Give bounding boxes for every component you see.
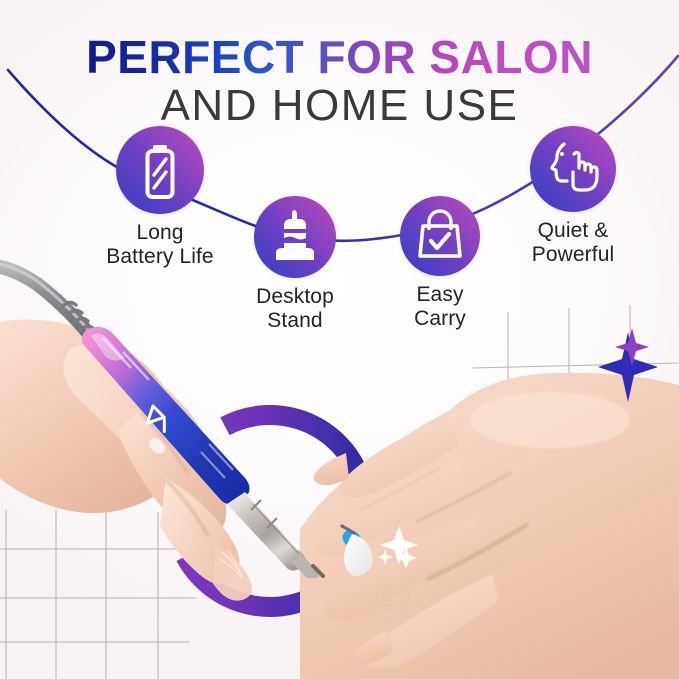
marketing-image-stage: PERFECT FOR SALON AND HOME USE Lon xyxy=(0,0,679,679)
drill-stand-icon xyxy=(254,196,336,278)
headline-line-1: PERFECT FOR SALON xyxy=(86,34,593,80)
shopping-bag-check-icon xyxy=(400,196,480,276)
feature-quiet-powerful[interactable]: Quiet & Powerful xyxy=(478,126,668,266)
headline-line-2: AND HOME USE xyxy=(0,82,679,130)
feature-badge xyxy=(254,196,336,278)
feature-badge xyxy=(400,196,480,276)
headline-block: PERFECT FOR SALON AND HOME USE xyxy=(0,34,679,130)
feature-badge xyxy=(116,126,204,214)
feature-label: Quiet & Powerful xyxy=(478,219,668,266)
feature-badge xyxy=(530,126,616,212)
nail-drill-pen xyxy=(55,318,385,578)
shush-face-icon xyxy=(530,126,616,212)
battery-icon xyxy=(116,126,204,214)
